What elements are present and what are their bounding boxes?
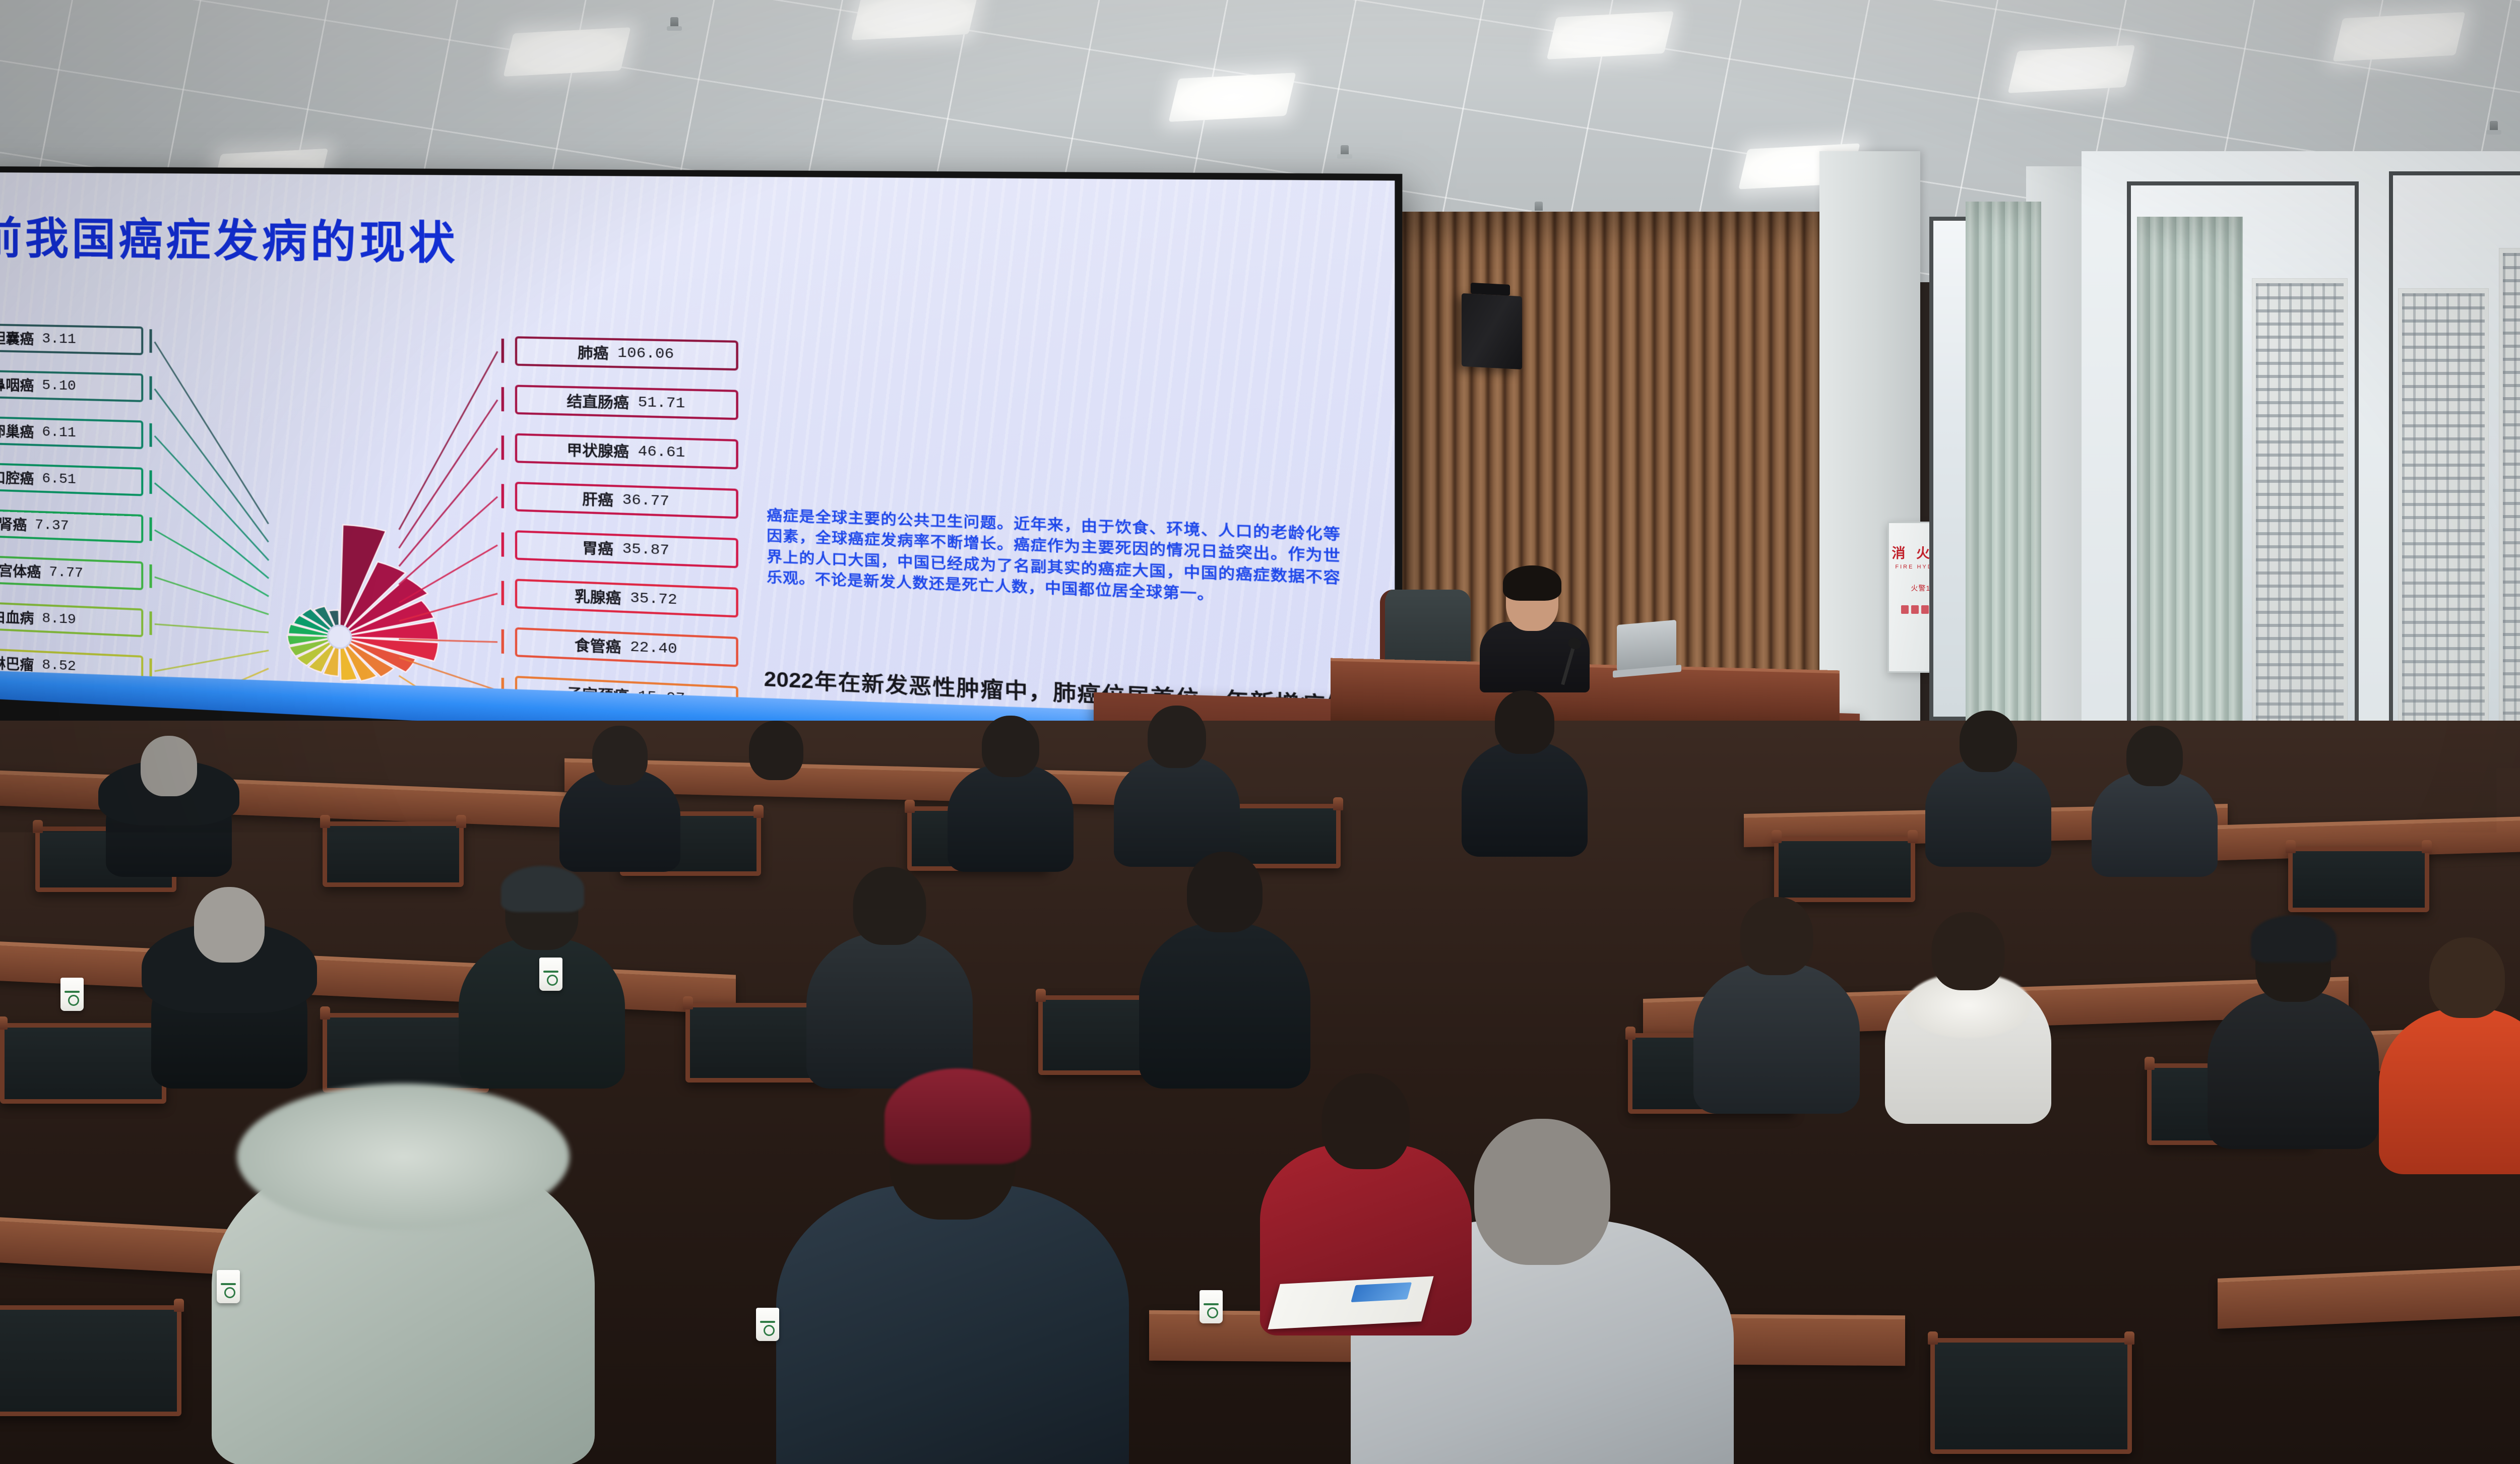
- person-coat: [1693, 963, 1860, 1114]
- callout-label-name: 甲状腺癌: [566, 439, 628, 462]
- chart-callout-right: 结直肠癌51.71: [515, 385, 738, 420]
- audience-member: [1462, 690, 1588, 857]
- callout-tick: [150, 470, 152, 494]
- callout-label-value: 35.87: [622, 541, 669, 559]
- chart-callout-left: 子宫体癌7.77: [0, 553, 143, 590]
- person-head: [2429, 937, 2505, 1018]
- audience-floor: [0, 721, 2520, 1464]
- window-curtain: [2137, 217, 2243, 741]
- wall-speaker-icon: [1462, 293, 1522, 369]
- chart-callout-right: 乳腺癌35.72: [515, 579, 738, 617]
- audience-member: [2379, 937, 2520, 1174]
- person-head: [2126, 726, 2183, 786]
- person-head: [1187, 852, 1263, 932]
- callout-tick: [501, 581, 504, 605]
- callout-label-value: 106.06: [617, 345, 674, 362]
- person-head: [194, 887, 265, 963]
- audience-member: [806, 867, 973, 1089]
- person-head: [141, 736, 197, 796]
- person-head: [853, 867, 926, 945]
- callout-tick: [501, 435, 504, 460]
- person-head: [592, 726, 648, 785]
- chart-callout-right: 甲状腺癌46.61: [515, 433, 738, 470]
- chart-callout-layer: 胆囊癌3.11鼻咽癌5.10卵巢癌6.11口腔癌6.51肾癌7.37子宫体癌7.…: [0, 172, 1395, 180]
- callout-tick: [501, 484, 504, 508]
- callout-tick: [501, 629, 504, 654]
- callout-tick: [501, 532, 504, 556]
- person-head: [1960, 711, 2017, 772]
- ceiling-light-panel: [2008, 45, 2135, 93]
- audience-member: [716, 721, 837, 872]
- audience-desk: [0, 940, 736, 1014]
- person-coat: [1462, 741, 1588, 857]
- callout-label-name: 肝癌: [582, 488, 613, 511]
- person-coat: [716, 766, 837, 872]
- person-head: [1474, 1119, 1610, 1265]
- callout-tick: [150, 564, 152, 588]
- person-coat: [2379, 1008, 2520, 1174]
- person-head: [1495, 690, 1554, 754]
- person-head: [1148, 706, 1206, 768]
- person-hood: [188, 1136, 617, 1328]
- callout-label-value: 15.07: [638, 688, 685, 707]
- callout-label-value: 7.77: [49, 564, 83, 582]
- callout-label-name: 乳腺癌: [575, 585, 621, 608]
- paper-cup: [217, 1270, 240, 1303]
- callout-label-name: 肾癌: [0, 514, 27, 535]
- chart-callout-right: 肺癌106.06: [515, 336, 738, 370]
- presenter-torso: [1480, 622, 1590, 692]
- person-coat: [1139, 922, 1310, 1089]
- window-pane-narrow: [1929, 217, 1970, 721]
- ceiling-light-panel: [503, 27, 631, 77]
- chart-callout-left: 白血病8.19: [0, 599, 143, 637]
- chart-callout-right: 肝癌36.77: [515, 482, 738, 519]
- window-curtain: [1966, 202, 2041, 736]
- presenter: [1477, 569, 1593, 685]
- callout-label-value: 7.37: [35, 517, 69, 534]
- callout-tick: [150, 658, 152, 682]
- ceiling-light-panel: [1547, 11, 1674, 59]
- callout-label-value: 51.71: [638, 394, 685, 412]
- callout-label-name: 鼻咽癌: [0, 374, 34, 395]
- callout-label-value: 22.40: [630, 639, 677, 658]
- callout-label-value: 46.61: [638, 443, 685, 461]
- rose-chart: [193, 461, 490, 765]
- audience-member: [1114, 706, 1240, 867]
- person-head: [1322, 1073, 1410, 1169]
- audience-member: [559, 726, 680, 872]
- lecture-room-photo: 消 火 栓 FIRE HYDRANT 火警119 前我国癌症发病的现状: [0, 0, 2520, 1464]
- exterior-building: [2252, 278, 2348, 732]
- window-pane: [2389, 171, 2520, 736]
- person-head: [982, 716, 1039, 777]
- ceiling-light-panel: [1168, 73, 1296, 122]
- presenter-laptop: [1617, 620, 1676, 671]
- callout-label-value: 6.11: [42, 424, 76, 441]
- presenter-hair: [1503, 565, 1561, 601]
- callout-label-value: 8.19: [42, 610, 76, 627]
- callout-tick: [150, 423, 152, 447]
- person-coat: [2092, 771, 2218, 877]
- callout-label-value: 8.52: [42, 657, 76, 674]
- callout-label-name: 结直肠癌: [566, 390, 628, 413]
- paper-cup: [539, 958, 562, 991]
- callout-label-value: 5.10: [42, 377, 76, 394]
- hat-cap: [2251, 915, 2337, 963]
- person-head: [1932, 912, 2005, 990]
- person-coat: [806, 932, 973, 1089]
- hat-cap: [501, 866, 584, 912]
- audience-member: [2092, 726, 2218, 877]
- person-coat: [2208, 990, 2379, 1149]
- person-coat: [948, 763, 1074, 872]
- callout-tick: [150, 611, 152, 635]
- callout-label-value: 6.51: [42, 471, 76, 487]
- callout-tick: [501, 678, 504, 702]
- audience-chair: [323, 821, 464, 887]
- audience-chair: [0, 1305, 181, 1416]
- audience-chair: [0, 1023, 166, 1104]
- exterior-building: [2398, 288, 2489, 732]
- rose-chart-svg: [193, 461, 490, 765]
- audience-member: [1139, 852, 1310, 1089]
- callout-label-name: 白血病: [0, 606, 34, 628]
- knit-hat: [885, 1068, 1031, 1164]
- callout-label-value: 8.75: [35, 704, 69, 721]
- paper-cup: [60, 978, 84, 1011]
- audience-member: [948, 716, 1074, 872]
- callout-label-name: 子宫体癌: [0, 559, 41, 582]
- callout-label-name: 肺癌: [578, 342, 609, 363]
- chart-callout-left: 淋巴瘤8.52: [0, 645, 143, 684]
- callout-label-name: 卵巢癌: [0, 420, 34, 441]
- chart-callout-left: 鼻咽癌5.10: [0, 368, 143, 402]
- sprinkler-head-icon: [670, 17, 678, 30]
- audience-member: [2208, 922, 2379, 1149]
- ceiling-light-panel: [2333, 12, 2465, 61]
- chart-callout-left: 口腔癌6.51: [0, 461, 143, 496]
- callout-tick: [501, 387, 504, 411]
- chart-callout-right: 胃癌35.87: [515, 530, 738, 568]
- audience-member: [1925, 711, 2051, 867]
- callout-tick: [150, 376, 152, 400]
- callout-label-name: 脑瘤: [0, 699, 27, 721]
- callout-label-name: 淋巴瘤: [0, 653, 34, 675]
- person-coat: [1925, 758, 2051, 867]
- chart-callout-left: 肾癌7.37: [0, 507, 143, 543]
- callout-label-name: 胆囊癌: [0, 328, 34, 349]
- audience-member: [1693, 897, 1860, 1114]
- callout-tick: [150, 329, 152, 353]
- paper-cup: [756, 1308, 779, 1341]
- audience-desk: [2218, 1251, 2520, 1329]
- chart-callout-left: 胆囊癌3.11: [0, 323, 143, 355]
- callout-label-name: 子宫颈癌: [566, 682, 628, 707]
- chart-callout-left: 卵巢癌6.11: [0, 415, 143, 449]
- sprinkler-head-icon: [1341, 145, 1349, 158]
- audience-member-foreground: [776, 1084, 1129, 1464]
- callout-label-name: 胃癌: [582, 537, 613, 559]
- paper-cup: [1200, 1290, 1223, 1323]
- audience-desk: [0, 770, 575, 828]
- ceiling-light-panel: [851, 0, 979, 40]
- audience-chair: [1774, 837, 1915, 902]
- audience-member-foreground: [212, 1053, 595, 1464]
- callout-label-name: 口腔癌: [0, 467, 34, 488]
- brochure-handout: [1268, 1276, 1433, 1329]
- person-head: [749, 721, 803, 780]
- person-coat: [1114, 756, 1240, 867]
- chart-callout-right: 食管癌22.40: [515, 627, 738, 667]
- callout-tick: [501, 339, 504, 363]
- callout-label-value: 3.11: [42, 331, 76, 348]
- sprinkler-head-icon: [2490, 121, 2498, 134]
- exterior-building: [2499, 248, 2520, 732]
- presentation-slide: 前我国癌症发病的现状 胆囊癌3.11鼻咽癌5.10卵巢癌6.11口腔癌6.51肾…: [0, 172, 1395, 771]
- audience-chair: [2288, 847, 2429, 912]
- slide-paragraph-intro: 癌症是全球主要的公共卫生问题。近年来，由于饮食、环境、人口的老龄化等因素，全球癌…: [767, 505, 1341, 610]
- audience-chair: [1930, 1338, 2132, 1454]
- callout-label-value: 35.72: [630, 590, 677, 609]
- callout-tick: [150, 518, 152, 541]
- chart-callout-right: 子宫颈癌15.07: [515, 676, 738, 717]
- person-head: [1740, 897, 1813, 975]
- person-coat: [776, 1184, 1129, 1464]
- callout-label-name: 食管癌: [575, 634, 621, 657]
- slide-title: 前我国癌症发病的现状: [0, 203, 458, 272]
- callout-label-value: 36.77: [622, 492, 669, 510]
- audience-member: [106, 736, 232, 877]
- audience-member: [1885, 912, 2051, 1124]
